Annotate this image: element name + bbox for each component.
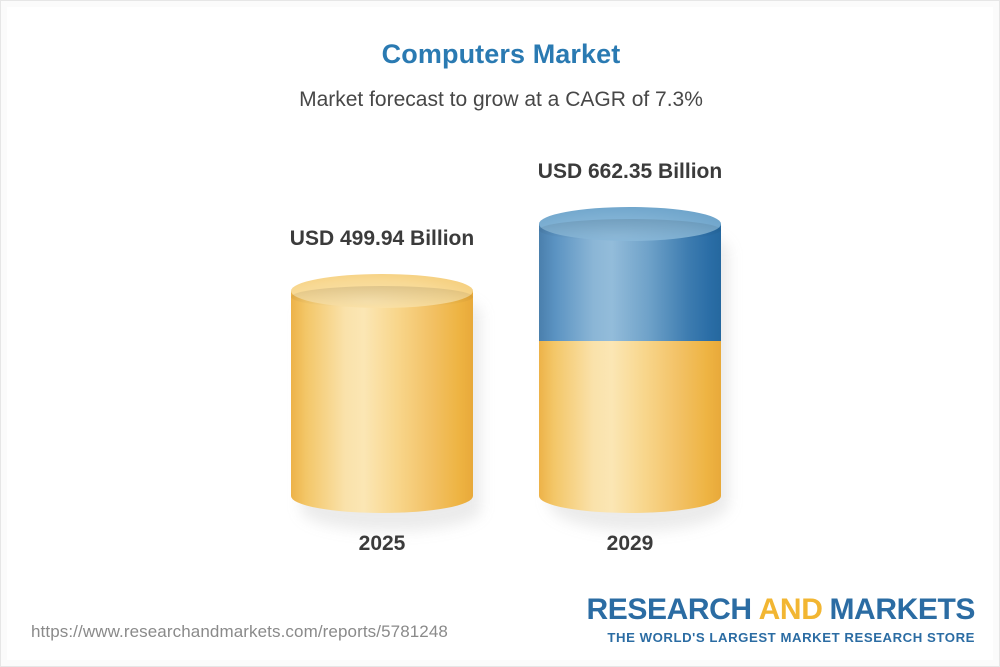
- bar-segment-growth-2029: [539, 224, 721, 341]
- cylinder-bar-2025[interactable]: [291, 274, 473, 513]
- value-label-2025: USD 499.94 Billion: [231, 227, 533, 251]
- cylinder-top-cap: [539, 207, 721, 241]
- cylinder-body: [291, 291, 473, 513]
- plot-area: USD 499.94 Billion 2025 USD 662.35 Billi…: [1, 1, 1000, 601]
- brand-logo: RESEARCHANDMARKETS THE WORLD'S LARGEST M…: [587, 595, 975, 644]
- x-axis-label-2029: 2029: [479, 532, 781, 556]
- bar-segment-base-2029: [539, 341, 721, 513]
- cylinder-bar-2029[interactable]: [539, 207, 721, 513]
- brand-word-and: AND: [759, 593, 823, 626]
- chart-canvas: Computers Market Market forecast to grow…: [0, 0, 1000, 667]
- bar-segment-base-2025: [291, 291, 473, 513]
- brand-name: RESEARCHANDMARKETS: [587, 595, 975, 625]
- brand-word-markets: MARKETS: [829, 593, 975, 626]
- brand-word-research: RESEARCH: [587, 593, 752, 626]
- brand-tagline: THE WORLD'S LARGEST MARKET RESEARCH STOR…: [587, 631, 975, 644]
- cylinder-top-cap: [291, 274, 473, 308]
- source-url[interactable]: https://www.researchandmarkets.com/repor…: [31, 622, 448, 642]
- value-label-2029: USD 662.35 Billion: [479, 160, 781, 184]
- cylinder-body: [539, 224, 721, 513]
